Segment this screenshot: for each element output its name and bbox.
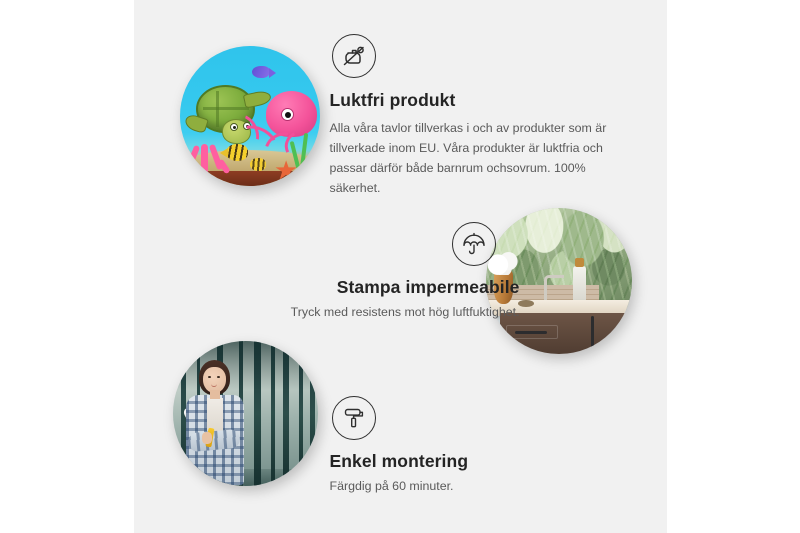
circular-photo-underwater-mural — [180, 46, 320, 186]
woman-neck — [210, 390, 220, 399]
umbrella-icon — [452, 222, 496, 266]
feature-odorless: Luktfri produkt Alla våra tavlor tillver… — [330, 34, 630, 198]
feature-title: Luktfri produkt — [330, 90, 630, 111]
infographic-panel: Luktfri produkt Alla våra tavlor tillver… — [134, 0, 667, 533]
feature-title: Stampa impermeabile — [206, 277, 520, 298]
no-odor-perfume-icon — [332, 34, 376, 78]
paint-roller-icon — [332, 396, 376, 440]
faucet — [544, 275, 564, 303]
forest-canopy-shadow — [173, 341, 318, 390]
woman-hand — [202, 432, 212, 444]
feature-body: Färgdig på 60 minuter. — [330, 476, 610, 496]
drawer-handle-horizontal — [515, 331, 547, 334]
woman-eye-left — [208, 376, 211, 378]
underwater-scene — [180, 46, 320, 186]
pink-coral — [182, 124, 230, 174]
feature-waterproof: Stampa impermeabile Tryck med resistens … — [206, 222, 522, 322]
forest-installer-scene — [173, 341, 318, 486]
page-root: Luktfri produkt Alla våra tavlor tillver… — [0, 0, 800, 533]
octopus-eye — [281, 108, 294, 121]
circular-photo-installer-forest-wallpaper — [173, 341, 318, 486]
soap-dispenser — [573, 266, 586, 303]
feature-title: Enkel montering — [330, 451, 610, 472]
yellow-striped-fish-small — [250, 158, 267, 171]
feature-body: Alla våra tavlor tillverkas i och av pro… — [330, 118, 630, 198]
feature-body: Tryck med resistens mot hög luftfuktighe… — [206, 302, 520, 322]
cabinet-handle-vertical — [591, 316, 594, 348]
feature-easy-install: Enkel montering Färgdig på 60 minuter. — [330, 396, 610, 496]
